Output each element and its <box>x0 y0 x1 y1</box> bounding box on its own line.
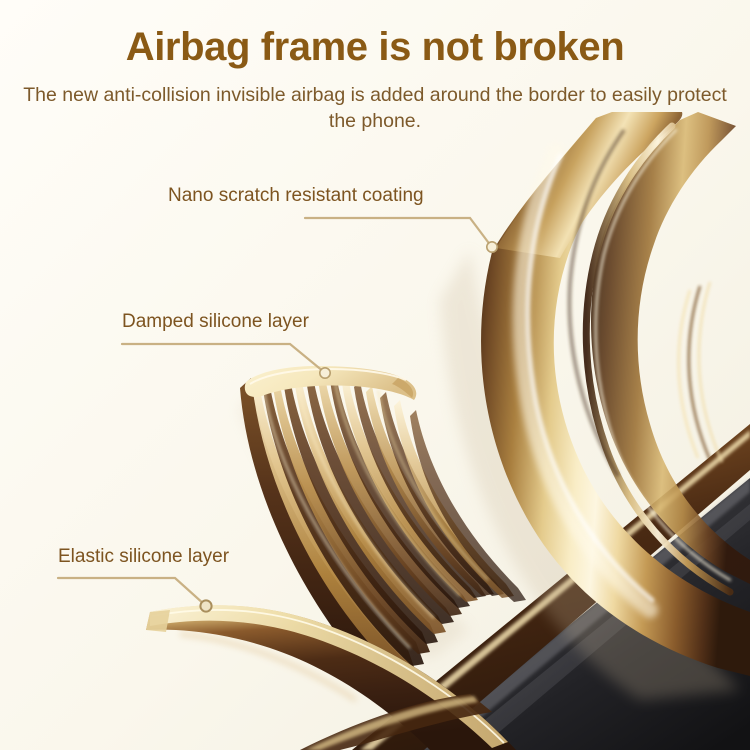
leader-dot-damped-silicone <box>320 368 330 378</box>
callout-label-elastic-silicone: Elastic silicone layer <box>58 547 229 566</box>
callout-label-damped-silicone: Damped silicone layer <box>122 312 309 331</box>
page-subtitle: The new anti-collision invisible airbag … <box>14 82 736 135</box>
page-title: Airbag frame is not broken <box>0 24 750 70</box>
product-feature-poster: Airbag frame is not broken The new anti-… <box>0 0 750 750</box>
callout-label-nano-coating: Nano scratch resistant coating <box>168 186 424 205</box>
leader-dot-nano-coating <box>487 242 497 252</box>
leader-dot-elastic-silicone <box>200 600 211 611</box>
